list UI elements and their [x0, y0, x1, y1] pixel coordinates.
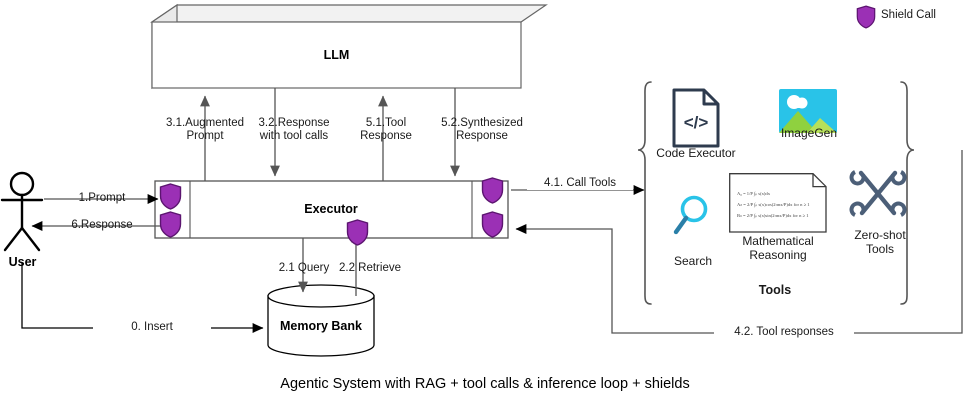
- llm-label: LLM: [152, 48, 521, 62]
- shield-icon-legend: [856, 5, 876, 34]
- shield-icon-executor-out-1: [481, 177, 504, 209]
- diagram-canvas: LLM Executor Memory Bank User Tools 3.1.…: [0, 0, 970, 411]
- edge-label-response: 6.Response: [50, 219, 154, 232]
- edge-insert-line: [22, 262, 263, 328]
- svg-text:</>: </>: [684, 113, 709, 132]
- code-document-icon: </>: [672, 88, 720, 153]
- legend-shield-label: Shield Call: [881, 9, 970, 22]
- math-document-icon: A₀ = 1/P ∫ₚ s(x)dx Aₙ = 2/P ∫ₚ s(x)cos(2…: [729, 173, 827, 238]
- shield-icon-executor-out-2: [481, 211, 504, 243]
- llm-box: [152, 5, 546, 88]
- tool-label-imagegen: ImageGen: [763, 126, 855, 140]
- tool-label-mathematical-reasoning: Mathematical Reasoning: [724, 234, 832, 262]
- edge-label-tool-responses: 4.2. Tool responses: [714, 326, 854, 339]
- executor-label: Executor: [190, 202, 472, 216]
- tool-label-code-executor: Code Executor: [645, 146, 747, 160]
- edge-label-retrieve: 2.2 Retrieve: [320, 262, 420, 275]
- tool-label-zero-shot-tools: Zero-shot Tools: [838, 228, 922, 256]
- magnifier-icon: [673, 194, 713, 241]
- shield-icon-memory-retrieve: [346, 219, 369, 251]
- crossed-wrenches-icon: [849, 163, 907, 230]
- tool-label-search: Search: [656, 254, 730, 268]
- edge-label-tool-response: 5.1.Tool Response: [338, 117, 434, 143]
- edge-label-insert: 0. Insert: [93, 321, 211, 334]
- edge-label-call-tools: 4.1. Call Tools: [527, 177, 633, 190]
- user-label: User: [0, 255, 45, 269]
- edge-label-synthesized-response: 5.2.Synthesized Response: [423, 117, 541, 143]
- diagram-caption: Agentic System with RAG + tool calls & i…: [0, 376, 970, 392]
- tools-group-label: Tools: [715, 283, 835, 297]
- edge-label-prompt: 1.Prompt: [54, 192, 150, 205]
- memory-bank-label: Memory Bank: [268, 319, 374, 333]
- user-actor: [2, 173, 42, 250]
- tools-brace-left: [638, 82, 651, 304]
- shield-icon-executor-in-2: [159, 211, 182, 243]
- edge-label-response-with-tool-calls: 3.2.Response with tool calls: [234, 117, 354, 143]
